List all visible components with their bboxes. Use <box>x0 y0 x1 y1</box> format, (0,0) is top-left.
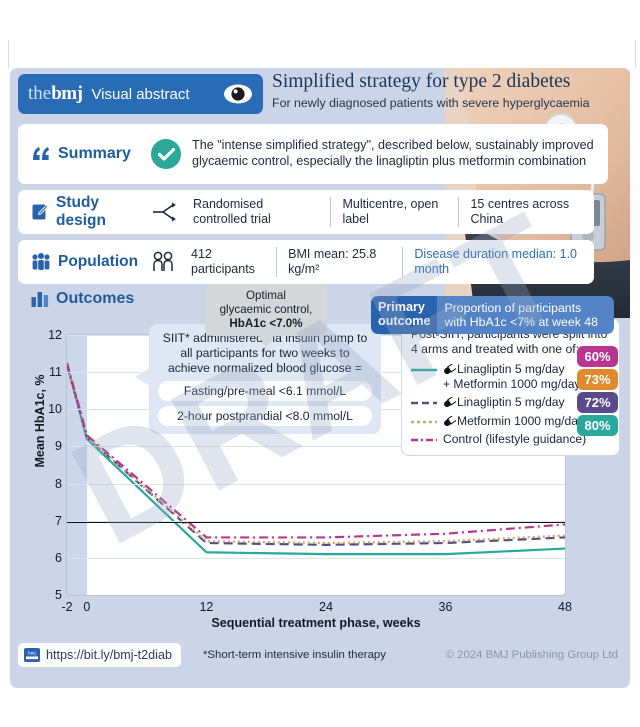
chart-x-tick: 48 <box>558 600 572 614</box>
bmj-favicon: bmj <box>24 648 40 662</box>
chart-y-tick: 8 <box>55 477 62 491</box>
siit-target-postprandial: 2-hour postprandial <8.0 mmol/L <box>158 406 372 426</box>
pencil-edit-icon <box>31 203 49 221</box>
bar-chart-icon <box>31 291 49 307</box>
chart-x-axis-label: Sequential treatment phase, weeks <box>66 616 566 630</box>
capsule-pill-icon <box>443 416 456 427</box>
study-design-row: Study design Randomised controlled trial… <box>18 190 594 234</box>
visual-abstract-label: Visual abstract <box>91 86 189 103</box>
bmj-logo-the: the <box>28 83 51 104</box>
chart-y-tick: 11 <box>49 365 62 379</box>
legend-swatch-solid-teal <box>411 368 437 372</box>
summary-row: Summary The "intense simplified strategy… <box>18 124 608 184</box>
primary-outcome-banner: Primary outcome Proportion of participan… <box>371 296 614 334</box>
chart-y-axis-label: Mean HbA1c, % <box>33 361 47 481</box>
svg-text:bmj: bmj <box>28 652 36 657</box>
page-top-rule <box>8 40 636 68</box>
outcomes-label-group: Outcomes <box>31 290 134 308</box>
quote-icon <box>31 146 51 162</box>
infographic-page: thebmj Visual abstract Simplified strate… <box>0 0 640 727</box>
legend-label-metformin: Metformin 1000 mg/day <box>457 414 584 428</box>
summary-label: Summary <box>58 145 131 163</box>
optimal-line1: Optimal <box>212 289 320 303</box>
visual-abstract-card: thebmj Visual abstract Simplified strate… <box>10 68 630 688</box>
legend-swatch-dotted-tan <box>411 420 437 424</box>
population-label-group: Population <box>18 253 151 271</box>
population-item-0: 412 participants <box>183 247 276 277</box>
outcome-badges: 60% 73% 72% 80% <box>577 346 618 438</box>
population-label: Population <box>58 253 138 271</box>
summary-text: The "intense simplified strategy", descr… <box>192 138 608 170</box>
eye-icon <box>223 83 253 105</box>
optimal-line3: HbA1c <7.0% <box>212 317 320 331</box>
page-title: Simplified strategy for type 2 diabetes <box>272 71 624 92</box>
bmj-brand-bar[interactable]: thebmj Visual abstract <box>18 74 263 114</box>
chart-x-tick: 36 <box>439 600 453 614</box>
check-circle-icon <box>151 139 181 169</box>
legend-swatch-dashdot-magenta <box>411 438 437 442</box>
callout-tail <box>135 368 150 386</box>
study-design-label-group: Study design <box>18 194 151 230</box>
legend-label-combo-2: + Metformin 1000 mg/day <box>443 377 580 391</box>
primary-outcome-desc-line1: Proportion of participants <box>444 301 607 315</box>
capsule-pill-icon <box>443 364 456 375</box>
siit-target-fasting: Fasting/pre-meal <6.1 mmol/L <box>158 381 372 401</box>
study-design-item-0: Randomised controlled trial <box>185 197 330 227</box>
population-row: Population 412 participants BMI mean: 25… <box>18 240 594 284</box>
primary-outcome-label: Primary outcome <box>371 296 437 334</box>
people-group-icon <box>31 253 51 271</box>
legend-label-combo-1: Linagliptin 5 mg/day <box>457 362 565 376</box>
chart-y-tick: 7 <box>55 514 62 528</box>
two-persons-icon <box>151 251 175 273</box>
legend-swatch-dashed-purple <box>411 401 437 405</box>
chart-y-tick: 10 <box>48 402 62 416</box>
primary-outcome-description: Proportion of participants with HbA1c <7… <box>437 296 614 334</box>
short-url-text: https://bit.ly/bmj-t2diab <box>46 648 172 662</box>
badge-linagliptin-72: 72% <box>577 392 618 413</box>
chart-x-tick: -2 <box>61 600 72 614</box>
badge-combo-80: 80% <box>577 415 618 436</box>
short-url-box[interactable]: bmj https://bit.ly/bmj-t2diab <box>18 643 181 667</box>
footnote-siit: *Short-term intensive insulin therapy <box>203 649 386 661</box>
capsule-pill-icon <box>443 397 456 408</box>
page-subtitle: For newly diagnosed patients with severe… <box>272 96 630 110</box>
badge-control-60: 60% <box>577 346 618 367</box>
chart-x-tick: 24 <box>319 600 333 614</box>
bmj-logo-bmj: bmj <box>51 83 82 104</box>
primary-outcome-label-line1: Primary <box>378 301 430 315</box>
legend-label-linagliptin: Linagliptin 5 mg/day <box>457 395 565 409</box>
chart-gridline <box>67 484 565 485</box>
header: thebmj Visual abstract Simplified strate… <box>10 68 630 120</box>
study-design-segments: Randomised controlled trial Multicentre,… <box>185 197 594 227</box>
chart-gridline <box>67 558 565 559</box>
randomisation-split-icon <box>151 202 177 222</box>
copyright-text: © 2024 BMJ Publishing Group Ltd <box>446 649 622 661</box>
bmj-logo: thebmj <box>28 83 82 105</box>
chart-y-tick: 6 <box>55 551 62 565</box>
study-design-label: Study design <box>56 194 151 230</box>
chart-x-tick: 0 <box>83 600 90 614</box>
population-item-2: Disease duration median: 1.0 month <box>402 247 594 277</box>
primary-outcome-label-line2: outcome <box>378 315 430 329</box>
chart-x-tick: 12 <box>199 600 213 614</box>
outcomes-label: Outcomes <box>56 290 134 308</box>
population-segments: 412 participants BMI mean: 25.8 kg/m² Di… <box>183 247 594 277</box>
badge-metformin-73: 73% <box>577 369 618 390</box>
chart-y-tick: 12 <box>48 328 62 342</box>
optimal-control-callout: Optimal glycaemic control, HbA1c <7.0% <box>205 284 327 336</box>
optimal-line2: glycaemic control, <box>212 303 320 317</box>
optimal-callout-tail <box>258 336 274 347</box>
chart-y-tick: 9 <box>55 439 62 453</box>
summary-label-group: Summary <box>18 145 151 163</box>
primary-outcome-desc-line2: with HbA1c <7% at week 48 <box>444 315 607 329</box>
study-design-item-1: Multicentre, open label <box>330 197 458 227</box>
footer: bmj https://bit.ly/bmj-t2diab *Short-ter… <box>18 640 622 670</box>
legend-label-control: Control (lifestyle guidance) <box>443 432 586 447</box>
chart-gridline <box>67 521 565 522</box>
study-design-item-2: 15 centres across China <box>458 197 594 227</box>
population-item-1: BMI mean: 25.8 kg/m² <box>276 247 402 277</box>
